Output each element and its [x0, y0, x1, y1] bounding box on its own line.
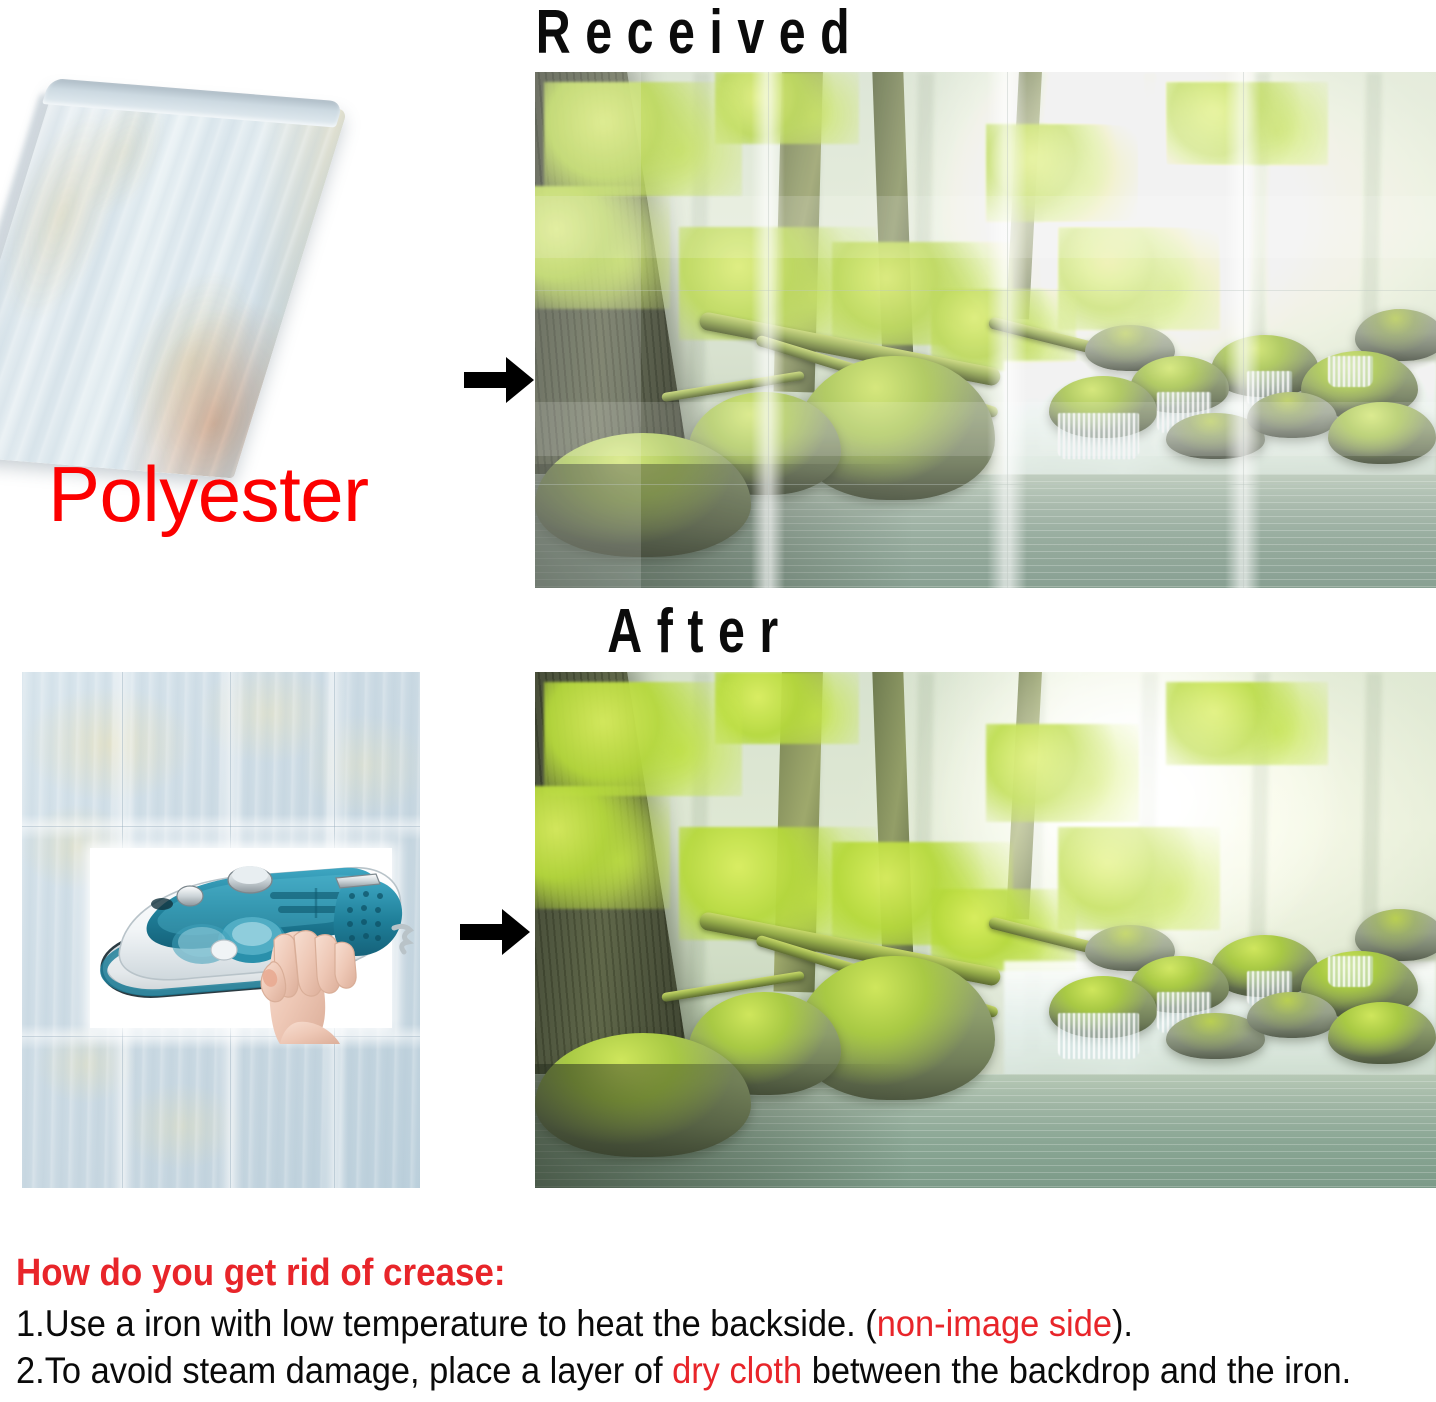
instruction-1-text-b: ).: [1112, 1303, 1133, 1344]
sunlight-glow: [535, 672, 1436, 1188]
photo-after-backdrop: [535, 672, 1436, 1188]
fabric-sheet: [0, 86, 348, 478]
instruction-2-text-a: 2.To avoid steam damage, place a layer o…: [16, 1350, 672, 1391]
care-instructions: How do you get rid of crease: 1.Use a ir…: [16, 1252, 1426, 1395]
instructions-heading: How do you get rid of crease:: [16, 1252, 1313, 1295]
sunlight-glow: [535, 72, 1436, 588]
instruction-line-1: 1.Use a iron with low temperature to hea…: [16, 1301, 1327, 1348]
ironing-demo-panel: [22, 672, 420, 1188]
instruction-1-highlight: non-image side: [877, 1303, 1112, 1344]
instruction-2-highlight: dry cloth: [672, 1350, 802, 1391]
arrow-right-icon: [462, 353, 536, 407]
fold-crease: [22, 814, 420, 840]
forest-scene-creased: [535, 72, 1436, 588]
steam-iron-icon: [84, 844, 414, 1044]
instruction-2-text-b: between the backdrop and the iron.: [802, 1350, 1351, 1391]
forest-scene-smooth: [535, 672, 1436, 1188]
section-title-received: Received: [349, 2, 1051, 64]
instruction-line-2: 2.To avoid steam damage, place a layer o…: [16, 1348, 1327, 1395]
arrow-right-icon: [458, 905, 532, 959]
folded-fabric-swatch: [18, 78, 438, 478]
material-label-polyester: Polyester: [48, 455, 369, 533]
fold-line: [22, 826, 420, 827]
photo-received-backdrop: [535, 72, 1436, 588]
instruction-1-text-a: 1.Use a iron with low temperature to hea…: [16, 1303, 877, 1344]
section-title-after: After: [349, 601, 1051, 663]
